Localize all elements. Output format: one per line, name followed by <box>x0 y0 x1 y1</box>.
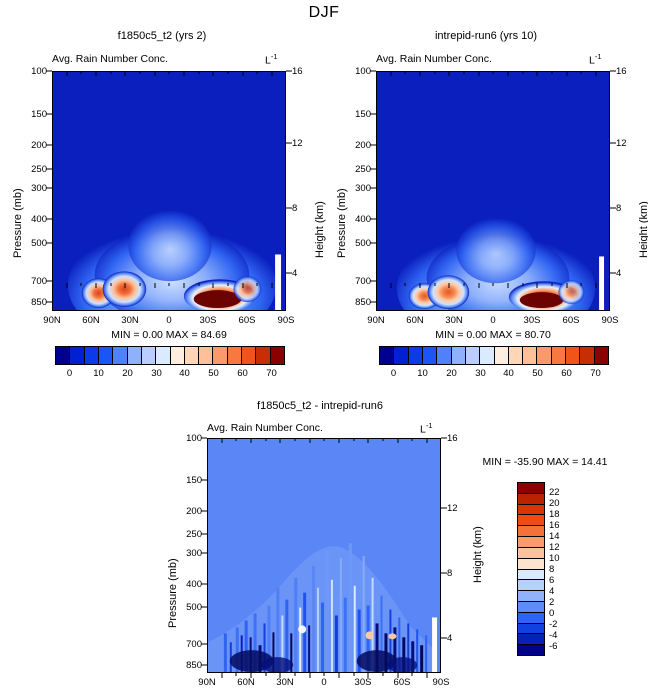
ptick-850: 850 <box>180 660 202 671</box>
cbar-swatch-14 <box>256 347 270 364</box>
xtick-60N: 60N <box>72 315 110 326</box>
ptick-700: 700 <box>25 276 47 287</box>
xtick-60S: 60S <box>383 677 421 688</box>
cbar-swatch-15 <box>271 347 284 364</box>
cbar-swatch-4 <box>437 347 451 364</box>
htick-4: 4 <box>292 268 297 279</box>
cbar-label-40: 40 <box>494 368 523 379</box>
cbar-swatch-12 <box>552 347 566 364</box>
cbar-label-60: 60 <box>552 368 581 379</box>
htick-8: 8 <box>616 203 621 214</box>
panel-case1-minmax: MIN = 0.00 MAX = 84.69 <box>52 329 286 341</box>
page-title: DJF <box>0 4 648 22</box>
xtick-60N: 60N <box>227 677 265 688</box>
panel-case2-yaxis-label: Pressure (mb) <box>336 188 348 258</box>
vbar-label-neg2: -2 <box>549 619 557 630</box>
ptick-200: 200 <box>349 140 371 151</box>
vbar-label-22: 22 <box>549 487 560 498</box>
ptick-400: 400 <box>25 214 47 225</box>
cbar-swatch-11 <box>537 347 551 364</box>
ptick-300: 300 <box>349 183 371 194</box>
cbar-swatch-8 <box>495 347 509 364</box>
ptick-500: 500 <box>180 602 202 613</box>
xtick-30N: 30N <box>435 315 473 326</box>
vbar-swatch-4 <box>518 526 544 537</box>
panel-case1-contour-field <box>53 72 285 310</box>
ptick-400: 400 <box>180 579 202 590</box>
vbar-swatch-3 <box>518 515 544 526</box>
htick-4: 4 <box>447 633 452 644</box>
cbar-label-30: 30 <box>142 368 171 379</box>
cbar-swatch-3 <box>423 347 437 364</box>
ptick-150: 150 <box>25 109 47 120</box>
xtick-90N: 90N <box>357 315 395 326</box>
cbar-swatch-7 <box>156 347 170 364</box>
vbar-swatch-11 <box>518 602 544 613</box>
cbar-swatch-11 <box>213 347 227 364</box>
cbar-swatch-2 <box>409 347 423 364</box>
xtick-0: 0 <box>150 315 188 326</box>
xtick-30S: 30S <box>513 315 551 326</box>
xtick-90N: 90N <box>33 315 71 326</box>
cbar-label-70: 70 <box>257 368 286 379</box>
cbar-swatch-9 <box>185 347 199 364</box>
cbar-swatch-10 <box>199 347 213 364</box>
ptick-300: 300 <box>25 183 47 194</box>
htick-16: 16 <box>616 66 627 77</box>
panel-case2-contour-field <box>377 72 609 310</box>
cbar-swatch-1 <box>70 347 84 364</box>
panel-diff-title: f1850c5_t2 - intrepid-run6 <box>155 400 485 412</box>
htick-8: 8 <box>447 568 452 579</box>
xtick-60N: 60N <box>396 315 434 326</box>
vbar-swatch-0 <box>518 483 544 494</box>
ptick-500: 500 <box>25 238 47 249</box>
vbar-label-0: 0 <box>549 608 554 619</box>
colorbar-difference[interactable] <box>517 482 545 656</box>
ptick-150: 150 <box>180 475 202 486</box>
ptick-100: 100 <box>349 66 371 77</box>
cbar-swatch-5 <box>128 347 142 364</box>
cbar-swatch-13 <box>242 347 256 364</box>
vbar-swatch-12 <box>518 613 544 624</box>
vbar-label-8: 8 <box>549 564 554 575</box>
panel-case2-title: intrepid-run6 (yrs 10) <box>324 30 648 42</box>
htick-12: 12 <box>447 503 458 514</box>
panel-diff-minmax: MIN = -35.90 MAX = 14.41 <box>455 456 635 468</box>
panel-diff-yaxis-label: Pressure (mb) <box>167 558 179 628</box>
cbar-swatch-3 <box>99 347 113 364</box>
xtick-0: 0 <box>305 677 343 688</box>
ptick-250: 250 <box>25 164 47 175</box>
xtick-60S: 60S <box>552 315 590 326</box>
cbar-label-20: 20 <box>437 368 466 379</box>
panel-case1: f1850c5_t2 (yrs 2) Avg. Rain Number Conc… <box>0 28 324 418</box>
vbar-label-12: 12 <box>549 542 560 553</box>
vbar-label-18: 18 <box>549 509 560 520</box>
vbar-label-14: 14 <box>549 531 560 542</box>
htick-16: 16 <box>447 433 458 444</box>
panel-case2-y2axis-label: Height (km) <box>638 201 648 258</box>
vbar-swatch-7 <box>518 559 544 570</box>
xtick-30N: 30N <box>111 315 149 326</box>
vbar-label-20: 20 <box>549 498 560 509</box>
xtick-90S: 90S <box>591 315 629 326</box>
vbar-swatch-14 <box>518 634 544 645</box>
cbar-swatch-7 <box>480 347 494 364</box>
ptick-400: 400 <box>349 214 371 225</box>
panel-diff-variable-label: Avg. Rain Number Conc. <box>207 422 323 434</box>
vbar-swatch-5 <box>518 537 544 548</box>
vbar-label-4: 4 <box>549 586 554 597</box>
ptick-700: 700 <box>180 639 202 650</box>
panel-case1-units-label: L-1 <box>265 52 278 67</box>
htick-12: 12 <box>616 138 627 149</box>
panel-case2-variable-label: Avg. Rain Number Conc. <box>376 53 492 65</box>
vbar-swatch-9 <box>518 580 544 591</box>
units-exponent: -1 <box>595 52 602 61</box>
vbar-label-2: 2 <box>549 597 554 608</box>
vbar-swatch-15 <box>518 645 544 655</box>
ptick-150: 150 <box>349 109 371 120</box>
vbar-swatch-6 <box>518 548 544 559</box>
panel-diff-contour-field <box>208 439 440 672</box>
panel-case1-plot-area <box>52 71 286 311</box>
htick-4: 4 <box>616 268 621 279</box>
xtick-90N: 90N <box>188 677 226 688</box>
ptick-250: 250 <box>180 529 202 540</box>
cbar-swatch-6 <box>466 347 480 364</box>
xtick-90S: 90S <box>267 315 305 326</box>
cbar-swatch-6 <box>142 347 156 364</box>
cbar-swatch-9 <box>509 347 523 364</box>
cbar-swatch-13 <box>566 347 580 364</box>
ptick-250: 250 <box>349 164 371 175</box>
xtick-30S: 30S <box>189 315 227 326</box>
panel-case1-yaxis-label: Pressure (mb) <box>12 188 24 258</box>
panel-case1-variable-label: Avg. Rain Number Conc. <box>52 53 168 65</box>
cbar-swatch-14 <box>580 347 594 364</box>
xtick-90S: 90S <box>422 677 460 688</box>
vbar-label-neg4: -4 <box>549 630 557 641</box>
panel-diff-units-label: L-1 <box>420 421 433 436</box>
cbar-swatch-1 <box>394 347 408 364</box>
cbar-swatch-2 <box>85 347 99 364</box>
cbar-swatch-10 <box>523 347 537 364</box>
panel-diff: f1850c5_t2 - intrepid-run6 Avg. Rain Num… <box>155 398 485 694</box>
ptick-300: 300 <box>180 548 202 559</box>
cbar-label-0: 0 <box>379 368 408 379</box>
ptick-500: 500 <box>349 238 371 249</box>
htick-8: 8 <box>292 203 297 214</box>
vbar-label-16: 16 <box>549 520 560 531</box>
vbar-swatch-10 <box>518 591 544 602</box>
panel-case2: intrepid-run6 (yrs 10) Avg. Rain Number … <box>324 28 648 418</box>
cbar-label-50: 50 <box>199 368 228 379</box>
vbar-swatch-8 <box>518 570 544 581</box>
panel-case2-plot-area <box>376 71 610 311</box>
cbar-swatch-0 <box>56 347 70 364</box>
xtick-0: 0 <box>474 315 512 326</box>
units-exponent: -1 <box>426 421 433 430</box>
cbar-swatch-15 <box>595 347 608 364</box>
ptick-200: 200 <box>180 506 202 517</box>
panel-diff-y2axis-label: Height (km) <box>472 526 484 583</box>
vbar-swatch-13 <box>518 624 544 635</box>
cbar-label-10: 10 <box>84 368 113 379</box>
ptick-200: 200 <box>25 140 47 151</box>
cbar-swatch-12 <box>228 347 242 364</box>
panel-diff-plot-area <box>207 438 441 673</box>
colorbar-absolute-1[interactable] <box>55 346 285 365</box>
panel-case2-minmax: MIN = 0.00 MAX = 80.70 <box>376 329 610 341</box>
cbar-label-20: 20 <box>113 368 142 379</box>
cbar-label-40: 40 <box>170 368 199 379</box>
xtick-30N: 30N <box>266 677 304 688</box>
units-exponent: -1 <box>271 52 278 61</box>
cbar-swatch-0 <box>380 347 394 364</box>
cbar-label-0: 0 <box>55 368 84 379</box>
colorbar-absolute-2[interactable] <box>379 346 609 365</box>
cbar-swatch-8 <box>171 347 185 364</box>
xtick-30S: 30S <box>344 677 382 688</box>
panel-case1-title: f1850c5_t2 (yrs 2) <box>0 30 324 42</box>
vbar-label-neg6: -6 <box>549 641 557 652</box>
ptick-100: 100 <box>25 66 47 77</box>
vbar-swatch-2 <box>518 505 544 516</box>
panel-case2-units-label: L-1 <box>589 52 602 67</box>
cbar-label-50: 50 <box>523 368 552 379</box>
cbar-label-10: 10 <box>408 368 437 379</box>
htick-16: 16 <box>292 66 303 77</box>
cbar-label-60: 60 <box>228 368 257 379</box>
vbar-label-6: 6 <box>549 575 554 586</box>
cbar-swatch-4 <box>113 347 127 364</box>
ptick-100: 100 <box>180 433 202 444</box>
cbar-label-30: 30 <box>466 368 495 379</box>
xtick-60S: 60S <box>228 315 266 326</box>
cbar-swatch-5 <box>452 347 466 364</box>
ptick-850: 850 <box>25 297 47 308</box>
vbar-swatch-1 <box>518 494 544 505</box>
htick-12: 12 <box>292 138 303 149</box>
ptick-850: 850 <box>349 297 371 308</box>
vbar-label-10: 10 <box>549 553 560 564</box>
cbar-label-70: 70 <box>581 368 610 379</box>
ptick-700: 700 <box>349 276 371 287</box>
